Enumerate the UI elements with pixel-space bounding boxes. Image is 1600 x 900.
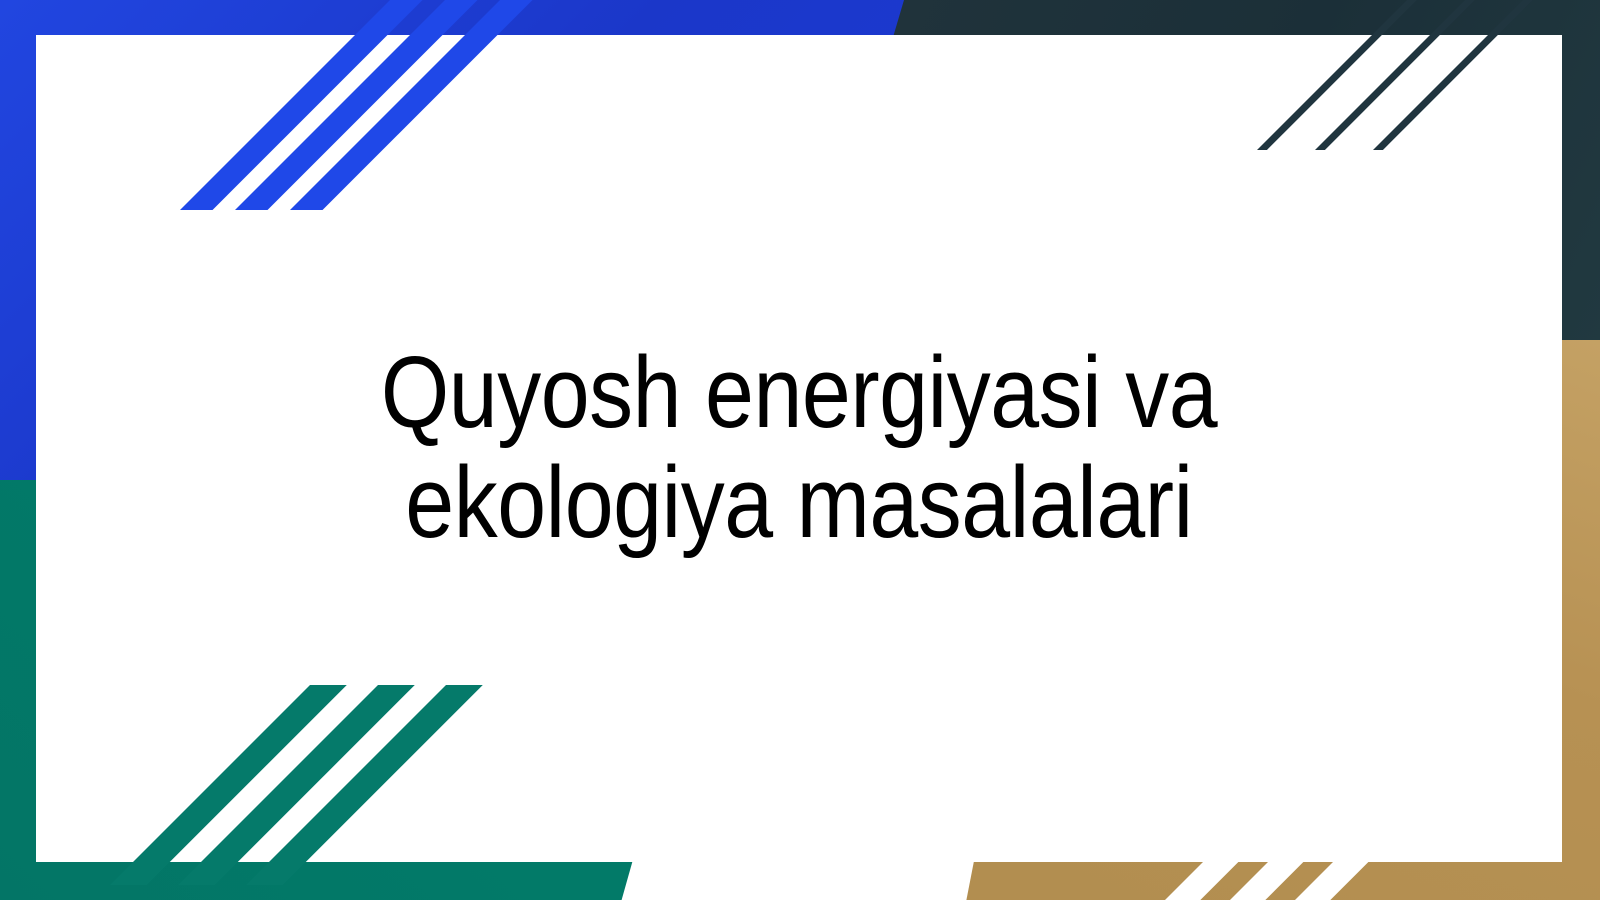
slide-title: Quyosh energiyasi va ekologiya masalalar… (135, 339, 1463, 557)
presentation-slide: Quyosh energiyasi va ekologiya masalalar… (0, 0, 1600, 900)
slide-content-card: Quyosh energiyasi va ekologiya masalalar… (36, 35, 1562, 862)
